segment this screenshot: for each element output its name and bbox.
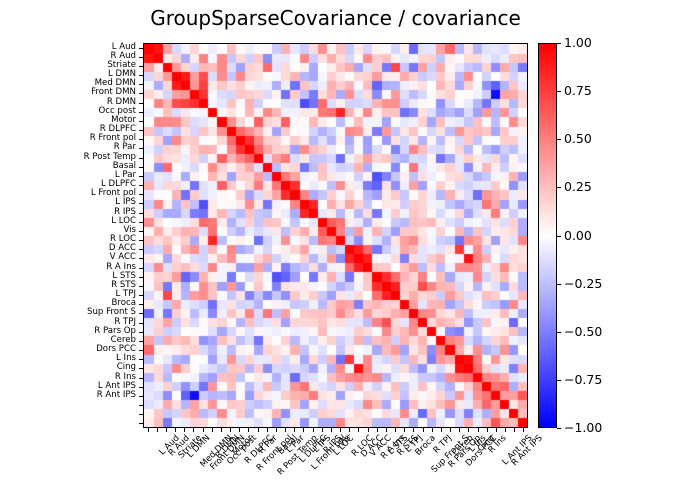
y-axis-tick-label: R Ant IPS — [0, 391, 136, 400]
y-axis-tick-mark — [139, 103, 143, 104]
x-axis-tick-mark — [157, 428, 158, 432]
y-axis-tick-mark — [139, 167, 143, 168]
y-axis-tick-label: R TPJ — [0, 318, 136, 327]
x-axis-tick-mark — [423, 428, 424, 432]
x-axis-tick-mark — [175, 428, 176, 432]
x-axis-tick-mark — [368, 428, 369, 432]
y-axis-tick-mark — [139, 277, 143, 278]
y-axis-tick-label: Sup Front S — [0, 308, 136, 317]
y-axis-tick-mark — [139, 231, 143, 232]
x-axis-tick-mark — [395, 428, 396, 432]
y-axis-tick-mark — [139, 359, 143, 360]
x-axis-tick-mark — [313, 428, 314, 432]
x-axis-tick-mark — [487, 428, 488, 432]
y-axis-tick-mark — [139, 240, 143, 241]
x-axis-tick-mark — [349, 428, 350, 432]
x-axis-tick-mark — [148, 428, 149, 432]
y-axis-tick-mark — [139, 323, 143, 324]
y-axis-tick-label: R IPS — [0, 208, 136, 217]
y-axis-tick-mark — [139, 57, 143, 58]
colorbar-tick-label: 0.50 — [564, 133, 592, 146]
x-axis-tick-mark — [248, 428, 249, 432]
x-axis-tick-mark — [441, 428, 442, 432]
x-axis-tick-mark — [267, 428, 268, 432]
y-axis-tick-label: L Aud — [0, 43, 136, 52]
y-axis-tick-mark — [139, 203, 143, 204]
y-axis-tick-mark — [139, 414, 143, 415]
y-axis-tick-mark — [139, 121, 143, 122]
y-axis-tick-mark — [139, 332, 143, 333]
colorbar-tick-label: 0.25 — [564, 181, 592, 194]
y-axis-tick-mark — [139, 112, 143, 113]
colorbar-tick-mark — [557, 187, 561, 188]
y-axis-tick-label: R Post Temp — [0, 153, 136, 162]
y-axis-tick-mark — [139, 304, 143, 305]
colorbar-tick-label: −1.00 — [564, 422, 602, 435]
colorbar-tick-label: −0.50 — [564, 326, 602, 339]
y-axis-tick-mark — [139, 405, 143, 406]
x-axis-tick-mark — [331, 428, 332, 432]
y-axis-tick-mark — [139, 148, 143, 149]
y-axis-tick-mark — [139, 130, 143, 131]
colorbar-gradient — [539, 44, 556, 427]
x-axis-tick-mark — [523, 428, 524, 432]
x-axis-tick-mark — [404, 428, 405, 432]
x-axis-tick-mark — [294, 428, 295, 432]
x-axis-tick-mark — [230, 428, 231, 432]
y-axis-tick-mark — [139, 295, 143, 296]
colorbar-tick-label: −0.25 — [564, 278, 602, 291]
y-axis-tick-label: V ACC — [0, 253, 136, 262]
colorbar-tick-label: 0.00 — [564, 230, 592, 243]
colorbar-tick-label: −0.75 — [564, 374, 602, 387]
x-axis-tick-mark — [276, 428, 277, 432]
y-axis-tick-label: L Ins — [0, 354, 136, 363]
x-axis-tick-mark — [285, 428, 286, 432]
x-axis-tick-mark — [478, 428, 479, 432]
y-axis-tick-label: Front DMN — [0, 88, 136, 97]
y-axis-tick-mark — [139, 341, 143, 342]
x-axis-tick-mark — [450, 428, 451, 432]
x-axis-tick-mark — [386, 428, 387, 432]
x-axis-tick-mark — [322, 428, 323, 432]
colorbar-tick-mark — [557, 43, 561, 44]
y-axis-tick-mark — [139, 48, 143, 49]
y-axis-tick-label: R Par — [0, 143, 136, 152]
x-axis-tick-mark — [258, 428, 259, 432]
y-axis-tick-mark — [139, 378, 143, 379]
colorbar-tick-mark — [557, 284, 561, 285]
y-axis-tick-mark — [139, 396, 143, 397]
x-axis-tick-mark — [358, 428, 359, 432]
y-axis-tick-mark — [139, 268, 143, 269]
colorbar-tick-mark — [557, 91, 561, 92]
matplotlib-figure: GroupSparseCovariance / covariance L Aud… — [0, 0, 700, 500]
colorbar-tick-label: 1.00 — [564, 37, 592, 50]
y-axis-tick-mark — [139, 93, 143, 94]
x-axis-tick-mark — [514, 428, 515, 432]
colorbar-tick-label: 0.75 — [564, 85, 592, 98]
y-axis-tick-mark — [139, 423, 143, 424]
colorbar-tick-mark — [557, 428, 561, 429]
y-axis-tick-label: L LOC — [0, 217, 136, 226]
x-axis-tick-mark — [505, 428, 506, 432]
y-axis-tick-mark — [139, 222, 143, 223]
y-axis-tick-mark — [139, 84, 143, 85]
x-axis-tick-mark — [239, 428, 240, 432]
y-axis-tick-mark — [139, 313, 143, 314]
x-axis-tick-mark — [459, 428, 460, 432]
y-axis-tick-label: R A Ins — [0, 263, 136, 272]
x-axis-tick-mark — [193, 428, 194, 432]
colorbar-tick-mark — [557, 332, 561, 333]
y-axis-tick-mark — [139, 176, 143, 177]
y-axis-tick-label: L IPS — [0, 198, 136, 207]
x-axis-tick-mark — [303, 428, 304, 432]
y-axis-tick-mark — [139, 249, 143, 250]
y-axis-tick-mark — [139, 387, 143, 388]
x-axis-tick-mark — [203, 428, 204, 432]
colorbar-tick-mark — [557, 380, 561, 381]
y-axis-tick-mark — [139, 286, 143, 287]
x-axis-tick-mark — [340, 428, 341, 432]
colorbar-tick-mark — [557, 236, 561, 237]
y-axis-tick-mark — [139, 185, 143, 186]
y-axis-tick-mark — [139, 66, 143, 67]
y-axis-tick-mark — [139, 368, 143, 369]
x-axis-tick-mark — [184, 428, 185, 432]
y-axis-tick-mark — [139, 75, 143, 76]
x-axis-tick-mark — [166, 428, 167, 432]
x-axis-tick-mark — [221, 428, 222, 432]
y-axis-tick-mark — [139, 139, 143, 140]
x-axis-tick-mark — [413, 428, 414, 432]
y-axis-tick-mark — [139, 350, 143, 351]
x-axis-tick-mark — [468, 428, 469, 432]
colorbar — [538, 43, 557, 428]
colorbar-tick-mark — [557, 139, 561, 140]
y-axis-tick-label: R DMN — [0, 98, 136, 107]
y-axis-tick-label: Cing — [0, 363, 136, 372]
y-axis-tick-mark — [139, 158, 143, 159]
y-axis-tick-label: R Ins — [0, 373, 136, 382]
x-axis-tick-mark — [212, 428, 213, 432]
y-axis-tick-mark — [139, 213, 143, 214]
y-axis-tick-mark — [139, 258, 143, 259]
x-axis-tick-mark — [377, 428, 378, 432]
x-axis-tick-mark — [496, 428, 497, 432]
y-axis-tick-mark — [139, 194, 143, 195]
x-axis-tick-mark — [432, 428, 433, 432]
